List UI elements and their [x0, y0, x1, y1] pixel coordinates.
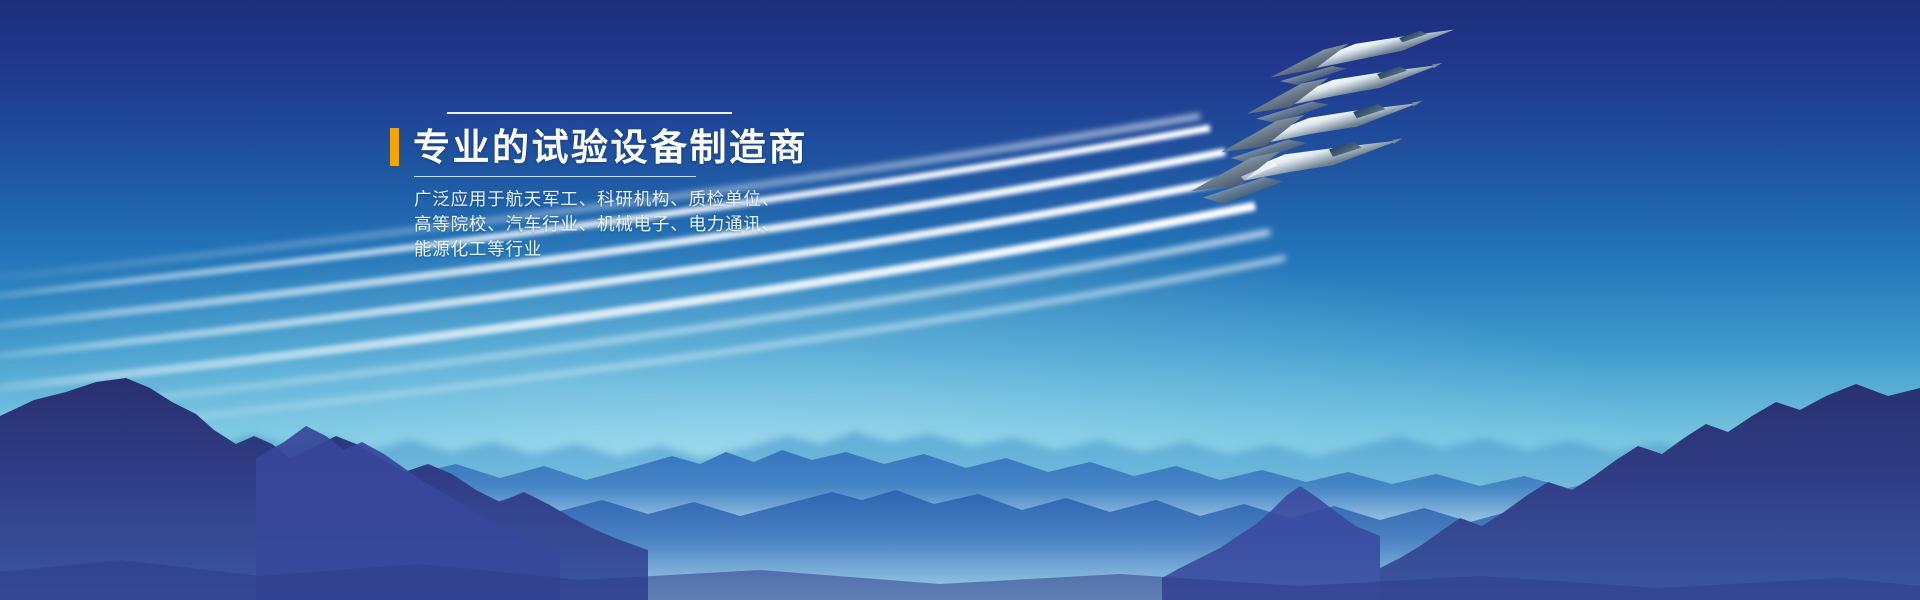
- page-title: 专业的试验设备制造商: [413, 129, 808, 166]
- title-divider-rule: [414, 176, 696, 177]
- title-top-rule: [447, 112, 732, 114]
- hero-banner: 专业的试验设备制造商 广泛应用于航天军工、科研机构、质检单位、 高等院校、汽车行…: [0, 0, 1920, 600]
- fighter-jet-formation: [1130, 48, 1490, 278]
- orange-accent-bar: [390, 128, 399, 166]
- subtitle-line-1: 广泛应用于航天军工、科研机构、质检单位、: [414, 187, 750, 212]
- mountain-range-silhouettes: [0, 340, 1920, 600]
- subtitle-line-3: 能源化工等行业: [414, 237, 750, 262]
- title-row: 专业的试验设备制造商: [390, 128, 750, 166]
- subtitle-line-2: 高等院校、汽车行业、机械电子、电力通讯、: [414, 212, 750, 237]
- hero-copy-block: 专业的试验设备制造商 广泛应用于航天军工、科研机构、质检单位、 高等院校、汽车行…: [390, 112, 750, 262]
- hero-subtitle: 广泛应用于航天军工、科研机构、质检单位、 高等院校、汽车行业、机械电子、电力通讯…: [414, 187, 750, 262]
